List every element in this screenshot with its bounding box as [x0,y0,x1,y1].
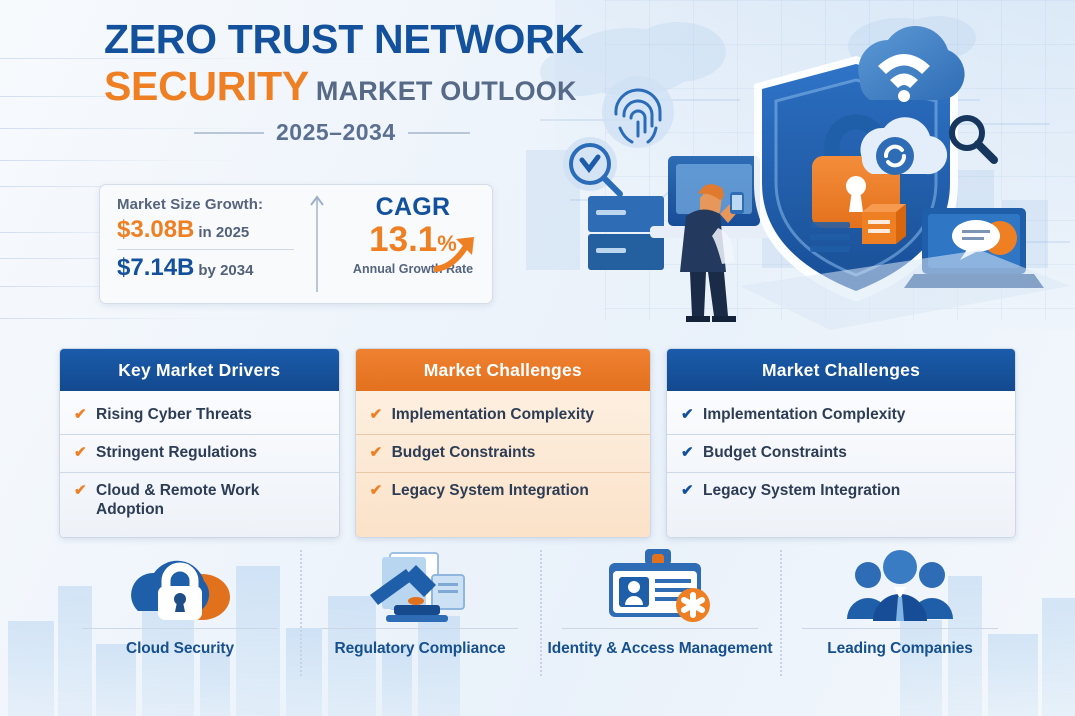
list-item-label: Legacy System Integration [392,482,589,501]
market-size-2025-suffix: in 2025 [198,224,249,241]
list-item-label: Rising Cyber Threats [96,406,252,425]
year-rule-left [194,132,264,134]
list-item-label: Cloud & Remote Work Adoption [96,482,329,520]
page-title-line1: ZERO TRUST NETWORK [104,18,574,61]
title-block: ZERO TRUST NETWORK SECURITYMARKET OUTLOO… [104,18,574,146]
cagr-value: 13.1 [369,220,437,259]
card-market-challenges-blue: Market Challenges ✔ Implementation Compl… [666,348,1016,538]
card-title-3: Market Challenges [667,349,1015,391]
gavel-document-icon [360,548,480,626]
card-title-2: Market Challenges [356,349,650,391]
focus-rule [562,628,759,629]
focus-identity-access-management[interactable]: Identity & Access Management [540,548,780,680]
list-item[interactable]: ✔ Implementation Complexity [356,397,650,434]
market-size-2034-value: $7.14B [117,254,194,281]
check-icon: ✔ [74,406,88,423]
growth-trend-arrow [434,233,480,278]
list-item[interactable]: ✔ Stringent Regulations [60,434,339,472]
hero-illustration [510,0,1075,330]
fingerprint-icon [602,76,674,148]
focus-label-regulatory-compliance: Regulatory Compliance [334,640,505,658]
focus-rule [322,628,519,629]
list-item[interactable]: ✔ Budget Constraints [667,434,1015,472]
list-item[interactable]: ✔ Legacy System Integration [667,472,1015,510]
focus-label-cloud-security: Cloud Security [126,640,234,658]
year-rule-right [408,132,470,134]
growth-arrow-divider [300,185,334,303]
focus-areas-row: Cloud Security Regulatory Compliance [60,548,1020,680]
focus-label-identity-access-management: Identity & Access Management [548,640,773,658]
list-item-label: Implementation Complexity [703,406,905,425]
page-title-security: SECURITY [104,63,309,109]
check-icon: ✔ [681,482,695,499]
list-item-label: Stringent Regulations [96,444,257,463]
list-item[interactable]: ✔ Rising Cyber Threats [60,397,339,434]
rising-arrow-icon [434,233,480,273]
card-body-3: ✔ Implementation Complexity ✔ Budget Con… [667,391,1015,537]
market-size-label: Market Size Growth: [117,196,300,213]
list-item-label: Implementation Complexity [392,406,594,425]
list-item[interactable]: ✔ Cloud & Remote Work Adoption [60,472,339,529]
year-range: 2025–2034 [276,119,396,146]
orange-box-icon [862,204,906,244]
check-icon: ✔ [370,444,384,461]
market-size-2025-value: $3.08B [117,216,194,243]
market-size-2034-suffix: by 2034 [198,262,253,279]
up-arrow-icon [308,192,326,296]
market-size-2034-row: $7.14Bby 2034 [117,254,300,282]
list-item[interactable]: ✔ Implementation Complexity [667,397,1015,434]
list-item-label: Budget Constraints [703,444,847,463]
cards-row: Key Market Drivers ✔ Rising Cyber Threat… [59,348,1016,538]
card-body-2: ✔ Implementation Complexity ✔ Budget Con… [356,391,650,537]
market-size-2025-row: $3.08Bin 2025 [117,216,300,244]
infographic-poster: ZERO TRUST NETWORK SECURITYMARKET OUTLOO… [0,0,1075,716]
page-title-outlook: MARKET OUTLOOK [316,76,577,106]
focus-rule [802,628,999,629]
year-range-row: 2025–2034 [104,119,574,146]
id-badge-icon [595,548,725,626]
focus-leading-companies[interactable]: Leading Companies [780,548,1020,680]
list-item[interactable]: ✔ Legacy System Integration [356,472,650,510]
list-item[interactable]: ✔ Budget Constraints [356,434,650,472]
check-icon: ✔ [74,482,88,499]
card-body-1: ✔ Rising Cyber Threats ✔ Stringent Regul… [60,391,339,537]
focus-label-leading-companies: Leading Companies [827,640,973,658]
people-group-icon [835,548,965,626]
check-icon: ✔ [74,444,88,461]
card-market-challenges-orange: Market Challenges ✔ Implementation Compl… [355,348,651,538]
page-title-line2: SECURITYMARKET OUTLOOK [104,65,574,108]
list-item-label: Budget Constraints [392,444,536,463]
focus-regulatory-compliance[interactable]: Regulatory Compliance [300,548,540,680]
market-size-block: Market Size Growth: $3.08Bin 2025 $7.14B… [100,185,300,303]
check-icon: ✔ [370,482,384,499]
focus-cloud-security[interactable]: Cloud Security [60,548,300,680]
card-key-market-drivers: Key Market Drivers ✔ Rising Cyber Threat… [59,348,340,538]
cagr-label: CAGR [334,193,492,222]
check-icon: ✔ [681,406,695,423]
cagr-block: CAGR 13.1% Annual Growth Rate [334,185,492,303]
focus-rule [82,628,279,629]
list-item-label: Legacy System Integration [703,482,900,501]
check-icon: ✔ [370,406,384,423]
stats-panel: Market Size Growth: $3.08Bin 2025 $7.14B… [99,184,493,304]
check-icon: ✔ [681,444,695,461]
stats-divider [117,249,294,250]
cloud-lock-icon [120,548,240,626]
card-title-1: Key Market Drivers [60,349,339,391]
